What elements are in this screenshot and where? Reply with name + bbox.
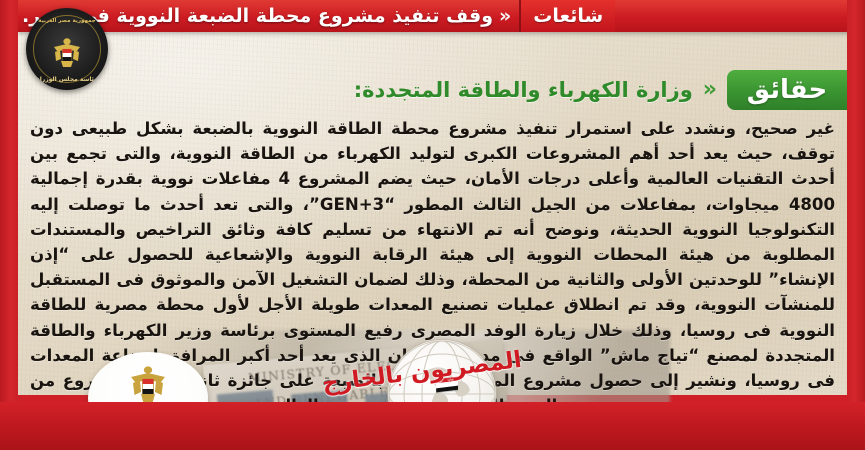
title-bar: شائعات « وقف تنفيذ مشروع محطة الضبعة الن…	[18, 0, 865, 32]
right-red-border	[847, 0, 865, 450]
infographic-poster: MINISTRY OF ELECTRICITY AND RENEWABLE EN…	[0, 0, 865, 450]
left-red-border	[0, 0, 18, 450]
eagle-of-saladin-icon	[47, 36, 87, 70]
rumor-badge: شائعات	[519, 0, 615, 32]
seal-arc-top-text: جمهورية مصر العربية	[26, 18, 108, 24]
chevron-left-green-icon: «	[703, 79, 717, 101]
facts-subtitle: وزارة الكهرباء والطاقة المتجددة:	[354, 78, 693, 102]
facts-badge: حقائق	[727, 70, 847, 110]
cabinet-seal-logo: جمهورية مصر العربية رئاسة مجلس الوزراء	[26, 8, 108, 90]
facts-bar: حقائق « وزارة الكهرباء والطاقة المتجددة:	[354, 70, 847, 110]
bottom-red-strip	[0, 402, 865, 450]
seal-arc-bottom-text: رئاسة مجلس الوزراء	[26, 76, 108, 83]
chevron-left-icon: «	[499, 7, 511, 26]
